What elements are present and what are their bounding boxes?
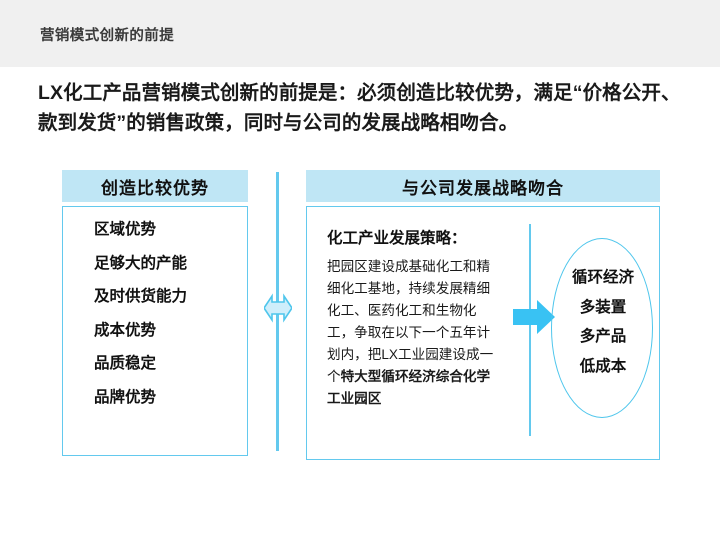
list-item: 多产品 bbox=[556, 329, 650, 345]
list-item: 成本优势 bbox=[94, 323, 244, 339]
arrow-right-icon bbox=[513, 300, 555, 334]
strategy-body-plain: 把园区建设成基础化工和精细化工基地，持续发展精细化工、医药化工和生物化工，争取在… bbox=[327, 259, 493, 384]
strategy-body-emphasis: 特大型循环经济综合化学工业园区 bbox=[327, 369, 490, 406]
page-title: 营销模式创新的前提 bbox=[40, 24, 174, 45]
lead-paragraph: LX化工产品营销模式创新的前提是：必须创造比较优势，满足“价格公开、款到发货”的… bbox=[38, 78, 693, 138]
slide-canvas: 营销模式创新的前提 LX化工产品营销模式创新的前提是：必须创造比较优势，满足“价… bbox=[0, 0, 720, 540]
advantage-list: 区域优势 足够大的产能 及时供货能力 成本优势 品质稳定 品牌优势 bbox=[94, 222, 244, 423]
list-item: 品质稳定 bbox=[94, 356, 244, 372]
list-item: 品牌优势 bbox=[94, 390, 244, 406]
strategy-body: 把园区建设成基础化工和精细化工基地，持续发展精细化工、医药化工和生物化工，争取在… bbox=[327, 256, 503, 410]
list-item: 多装置 bbox=[556, 300, 650, 316]
list-item: 循环经济 bbox=[556, 270, 650, 286]
right-panel-header: 与公司发展战略吻合 bbox=[306, 170, 660, 202]
double-arrow-horizontal-icon bbox=[264, 288, 292, 328]
list-item: 区域优势 bbox=[94, 222, 244, 238]
outcome-list: 循环经济 多装置 多产品 低成本 bbox=[556, 270, 650, 388]
strategy-heading: 化工产业发展策略： bbox=[327, 226, 467, 248]
left-panel-title: 创造比较优势 bbox=[101, 174, 209, 199]
list-item: 低成本 bbox=[556, 359, 650, 375]
left-panel-header: 创造比较优势 bbox=[62, 170, 248, 202]
list-item: 足够大的产能 bbox=[94, 256, 244, 272]
right-panel-title: 与公司发展战略吻合 bbox=[402, 174, 564, 199]
list-item: 及时供货能力 bbox=[94, 289, 244, 305]
